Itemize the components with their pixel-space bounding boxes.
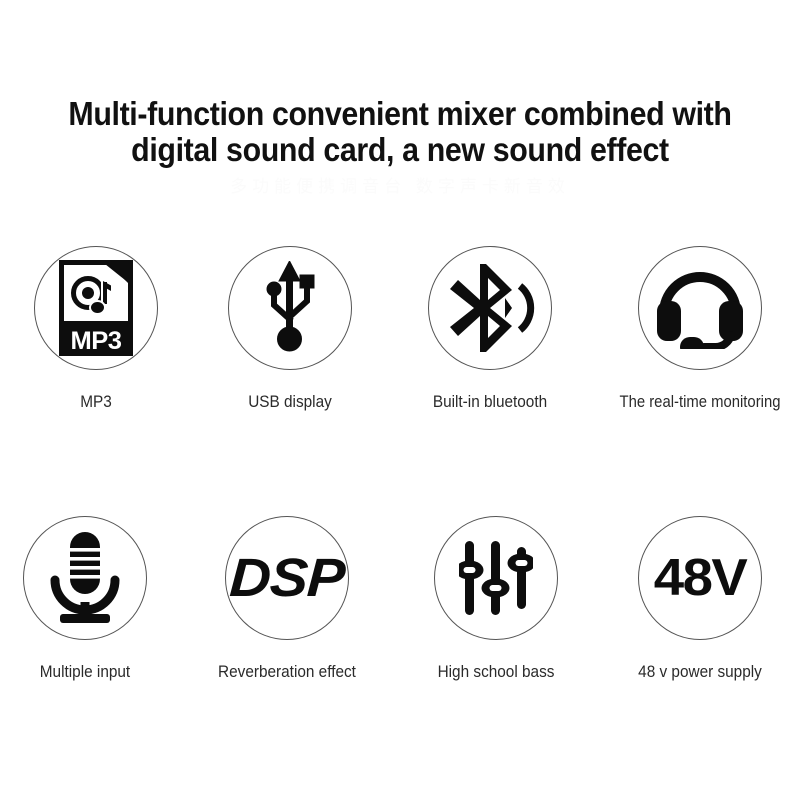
feature-label: The real-time monitoring [619, 392, 781, 412]
bluetooth-icon [442, 260, 538, 356]
feature-icon-circle [428, 246, 552, 370]
mp3-disc-hub [82, 287, 94, 299]
feature-icon-circle: DSP [225, 516, 349, 640]
bluetooth-rune [450, 264, 512, 352]
feature-grid: MP3 MP3 [0, 246, 800, 786]
feature-label: High school bass [412, 662, 579, 682]
feature-item-mp3[interactable]: MP3 MP3 [6, 246, 186, 412]
ghost-subtitle: 多功能便携调音台 数字声卡新音效 [0, 172, 800, 197]
headset-icon [654, 267, 746, 349]
faders-icon [459, 539, 533, 617]
feature-icon-circle [434, 516, 558, 640]
mp3-band-text: MP3 [71, 327, 122, 356]
feature-label: Reverberation effect [203, 662, 370, 682]
feature-label: Multiple input [1, 662, 168, 682]
feature-icon-circle [638, 246, 762, 370]
microphone-base [60, 614, 110, 623]
microphone-post [81, 602, 90, 616]
page-title-line-2: digital sound card, a new sound effect [32, 132, 768, 168]
page-title: Multi-function convenient mixer combined… [0, 96, 800, 168]
feature-label: Built-in bluetooth [406, 392, 573, 412]
usb-icon [259, 261, 321, 355]
feature-icon-circle: MP3 [34, 246, 158, 370]
feature-item-bass[interactable]: High school bass [406, 516, 586, 682]
feature-label: MP3 [12, 392, 179, 412]
feature-label: USB display [206, 392, 373, 412]
bluetooth-arc-large [520, 286, 531, 330]
feature-row-2: Multiple input DSP Reverberation effect [0, 516, 800, 786]
headset-earcup-left [657, 301, 681, 341]
page-title-line-1: Multi-function convenient mixer combined… [32, 96, 768, 132]
feature-item-monitoring[interactable]: The real-time monitoring [610, 246, 790, 412]
feature-item-reverberation[interactable]: DSP Reverberation effect [197, 516, 377, 682]
mp3-file-icon: MP3 [59, 260, 133, 356]
mp3-note-head [89, 300, 106, 315]
feature-row-1: MP3 MP3 [0, 246, 800, 516]
bluetooth-arc-small [505, 298, 512, 318]
feature-item-usb[interactable]: USB display [200, 246, 380, 412]
microphone-capsule [70, 532, 100, 594]
feature-grid-page: Multi-function convenient mixer combined… [0, 0, 800, 800]
feature-icon-circle [23, 516, 147, 640]
headset-boom-arm [704, 335, 731, 347]
dsp-text-icon: DSP [228, 551, 346, 605]
fader-track-2 [491, 541, 500, 615]
48v-text-icon: 48V [654, 552, 746, 604]
feature-item-phantom-power[interactable]: 48V 48 v power supply [610, 516, 790, 682]
feature-icon-circle [228, 246, 352, 370]
feature-item-bluetooth[interactable]: Built-in bluetooth [400, 246, 580, 412]
mp3-label-band: MP3 [59, 326, 133, 356]
microphone-icon [46, 532, 124, 624]
feature-icon-circle: 48V [638, 516, 762, 640]
headset-mic-capsule [680, 337, 704, 349]
feature-item-multiple-input[interactable]: Multiple input [0, 516, 175, 682]
feature-label: 48 v power supply [616, 662, 783, 682]
